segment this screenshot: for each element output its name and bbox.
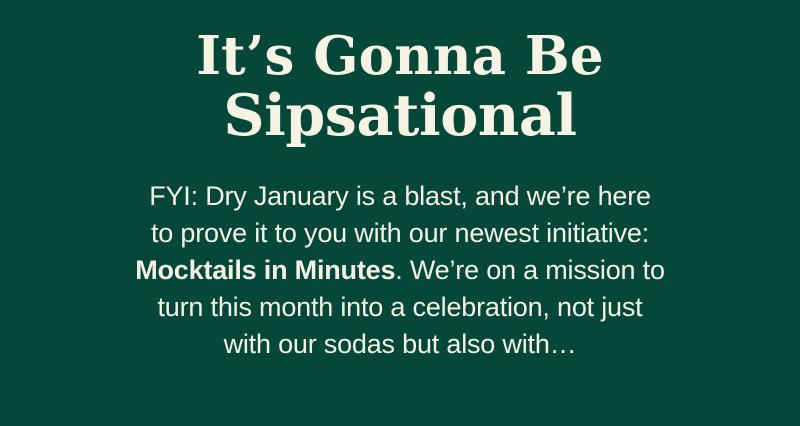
headline-line-2: Sipsational <box>0 86 800 146</box>
body-line-4: turn this month into a celebration, not … <box>114 289 686 326</box>
promo-card: It’s Gonna Be Sipsational FYI: Dry Janua… <box>0 0 800 426</box>
body-line-5: with our sodas but also with… <box>114 326 686 363</box>
body-line-3-rest: . We’re on a mission to <box>395 255 665 285</box>
page-title: It’s Gonna Be Sipsational <box>0 0 800 146</box>
body-copy: FYI: Dry January is a blast, and we’re h… <box>114 146 686 363</box>
body-line-1: FYI: Dry January is a blast, and we’re h… <box>114 178 686 215</box>
body-line-2: to prove it to you with our newest initi… <box>114 215 686 252</box>
body-line-3: Mocktails in Minutes. We’re on a mission… <box>114 252 686 289</box>
initiative-name: Mocktails in Minutes <box>135 255 395 285</box>
headline-line-1: It’s Gonna Be <box>0 26 800 86</box>
